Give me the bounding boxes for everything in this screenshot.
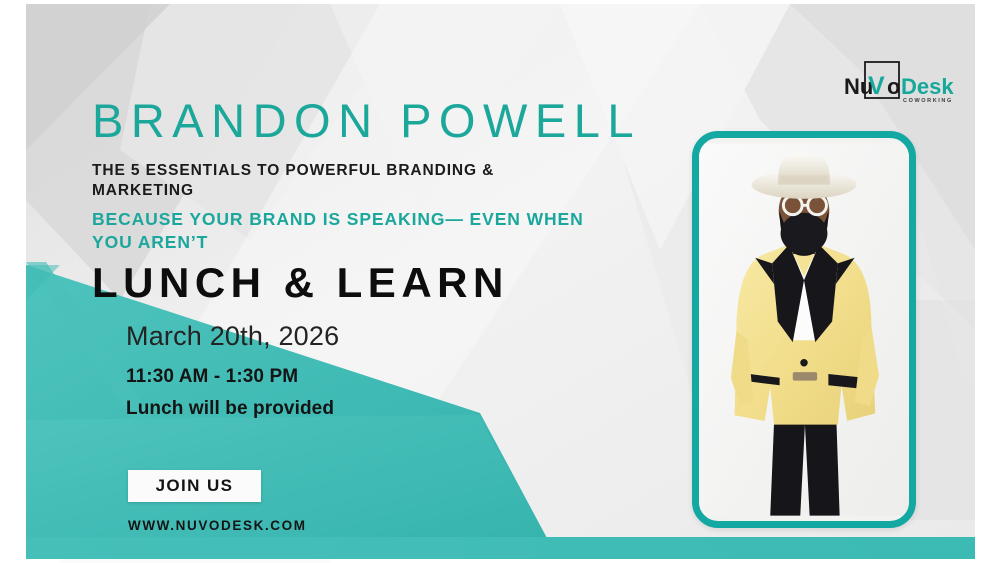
tagline: BECAUSE YOUR BRAND IS SPEAKING— EVEN WHE… — [92, 208, 592, 255]
topic-subtitle: THE 5 ESSENTIALS TO POWERFUL BRANDING & … — [92, 161, 562, 202]
website-url[interactable]: WWW.NUVODESK.COM — [128, 518, 307, 533]
event-time: 11:30 AM - 1:30 PM — [126, 366, 612, 388]
speaker-name: BRANDON POWELL — [92, 96, 612, 147]
speaker-photo — [699, 138, 909, 521]
logo-text-o: o — [887, 74, 900, 99]
logo-subtitle: COWORKING — [903, 98, 953, 104]
speaker-photo-frame — [692, 131, 916, 528]
event-date: March 20th, 2026 — [126, 321, 612, 352]
logo-text-desk: Desk — [901, 74, 954, 99]
join-us-button[interactable]: JOIN US — [128, 470, 261, 502]
meal-note: Lunch will be provided — [126, 398, 612, 420]
logo-text-v-accent: V — [868, 72, 885, 100]
event-flyer: BRANDON POWELL THE 5 ESSENTIALS TO POWER… — [0, 0, 1000, 563]
nuvodesk-logo: Nu V o Desk COWORKING — [843, 60, 963, 110]
flyer-text-block: BRANDON POWELL THE 5 ESSENTIALS TO POWER… — [92, 96, 612, 420]
event-title: LUNCH & LEARN — [92, 260, 612, 306]
